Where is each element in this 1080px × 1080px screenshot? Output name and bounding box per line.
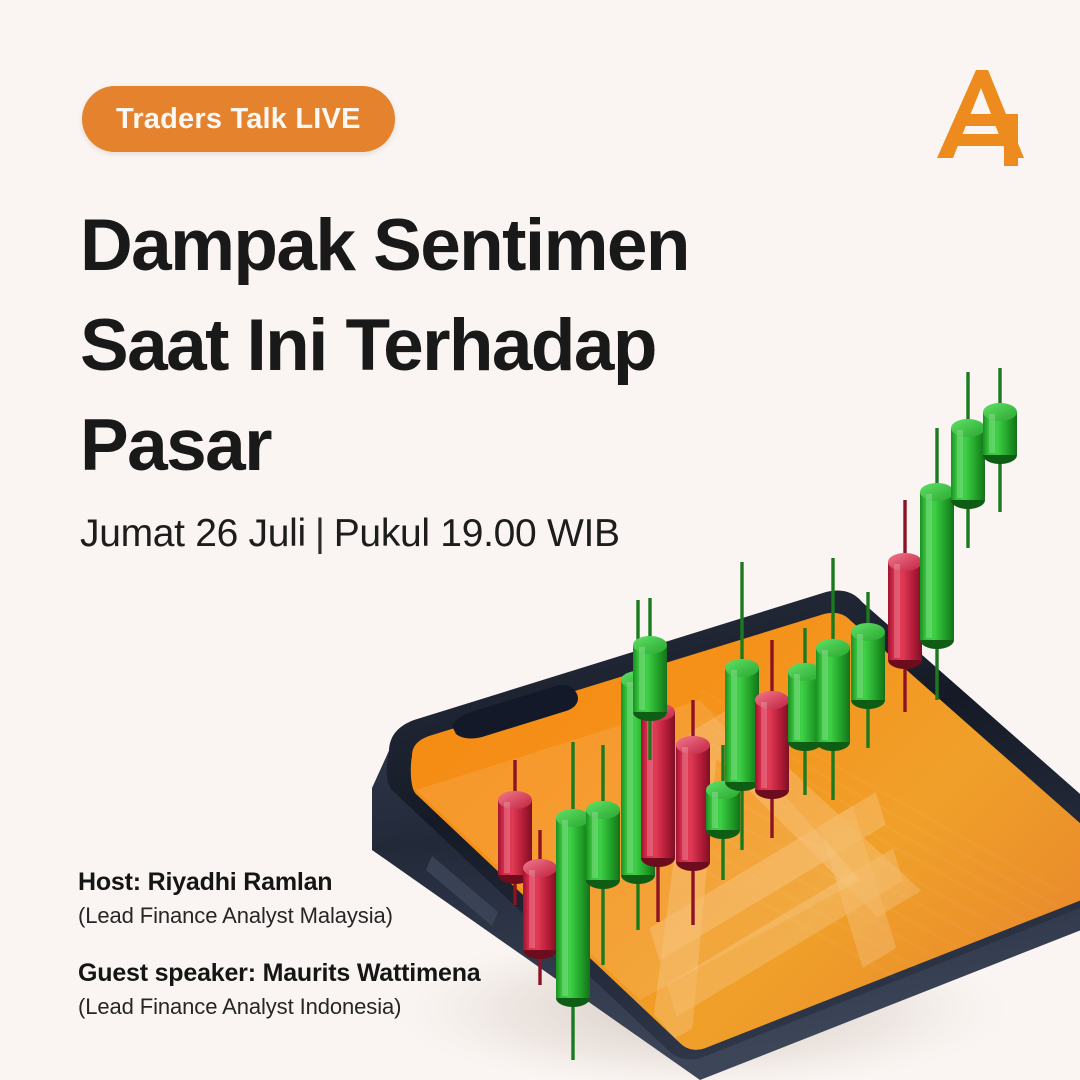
event-datetime: Jumat 26 Juli|Pukul 19.00 WIB (80, 512, 620, 556)
candle-body (676, 745, 710, 862)
candle-highlight (822, 650, 828, 740)
title-line-3: Pasar (80, 396, 840, 496)
candle-body (641, 712, 675, 858)
candle-highlight (731, 670, 737, 780)
candle-wick-upper (571, 742, 574, 818)
candle-body (556, 818, 590, 998)
candle-17-up (983, 368, 1017, 512)
candle-body (633, 645, 667, 712)
title-line-1: Dampak Sentimen (80, 196, 840, 296)
guest-name: Guest speaker: Maurits Wattimena (78, 957, 481, 989)
candle-cap-top (920, 483, 954, 501)
candle-body (888, 562, 922, 660)
candle-highlight (562, 820, 568, 996)
candle-body (816, 648, 850, 742)
candle-body (586, 810, 620, 880)
candle-highlight (712, 792, 718, 828)
candle-cap-top (755, 691, 789, 709)
candle-wick-lower (656, 858, 659, 922)
credit-guest: Guest speaker: Maurits Wattimena (Lead F… (78, 957, 481, 1022)
candle-cap-top (983, 403, 1017, 421)
candle-highlight (682, 747, 688, 860)
live-badge[interactable]: Traders Talk LIVE (82, 86, 395, 152)
page-title: Dampak Sentimen Saat Ini Terhadap Pasar (80, 196, 840, 496)
candle-highlight (529, 870, 535, 948)
credits-block: Host: Riyadhi Ramlan (Lead Finance Analy… (78, 866, 481, 1021)
candle-cap-top (633, 636, 667, 654)
candle-highlight (989, 414, 995, 453)
candle-body (725, 668, 759, 782)
candle-cap-top (676, 736, 710, 754)
candle-cap-top (556, 809, 590, 827)
candle-cap-top (725, 659, 759, 677)
candle-cap-top (888, 553, 922, 571)
ascendex-a-logo-icon (932, 62, 1028, 166)
candle-wick-upper (601, 745, 604, 810)
candle-wick-upper (935, 428, 938, 492)
host-name: Host: Riyadhi Ramlan (78, 866, 481, 898)
candle-wick-lower (691, 862, 694, 925)
title-line-2: Saat Ini Terhadap (80, 296, 840, 396)
candle-highlight (926, 494, 932, 638)
candle-wick-lower (601, 880, 604, 965)
candle-cap-top (586, 801, 620, 819)
candle-highlight (894, 564, 900, 658)
candle-highlight (957, 430, 963, 498)
candle-body (755, 700, 789, 790)
candle-cap-top (523, 859, 557, 877)
candle-wick-upper (903, 500, 906, 562)
candle-wick-lower (571, 998, 574, 1060)
candle-cap-top (851, 623, 885, 641)
candle-body (523, 868, 557, 950)
event-time: Pukul 19.00 WIB (334, 512, 620, 555)
candle-wick-upper (740, 562, 743, 668)
host-role: (Lead Finance Analyst Malaysia) (78, 901, 481, 931)
candle-body (920, 492, 954, 640)
candle-body (951, 428, 985, 500)
candle-wick-lower (740, 782, 743, 850)
event-date: Jumat 26 Juli (80, 512, 306, 555)
guest-role: (Lead Finance Analyst Indonesia) (78, 992, 481, 1022)
candle-highlight (504, 802, 510, 873)
credit-host: Host: Riyadhi Ramlan (Lead Finance Analy… (78, 866, 481, 931)
candle-cap-top (951, 419, 985, 437)
candle-highlight (639, 647, 645, 710)
datetime-separator: | (306, 512, 334, 555)
candle-cap-top (498, 791, 532, 809)
candle-16-up (951, 372, 985, 548)
candle-wick-upper (831, 558, 834, 648)
candle-highlight (627, 682, 633, 873)
candle-body (851, 632, 885, 700)
live-badge-label: Traders Talk LIVE (116, 103, 361, 136)
candle-highlight (761, 702, 767, 788)
candle-highlight (592, 812, 598, 878)
candle-cap-top (816, 639, 850, 657)
poster-canvas: Traders Talk LIVE Dampak Sentimen Saat I… (0, 0, 1080, 1080)
candle-highlight (794, 674, 800, 740)
candle-highlight (857, 634, 863, 698)
